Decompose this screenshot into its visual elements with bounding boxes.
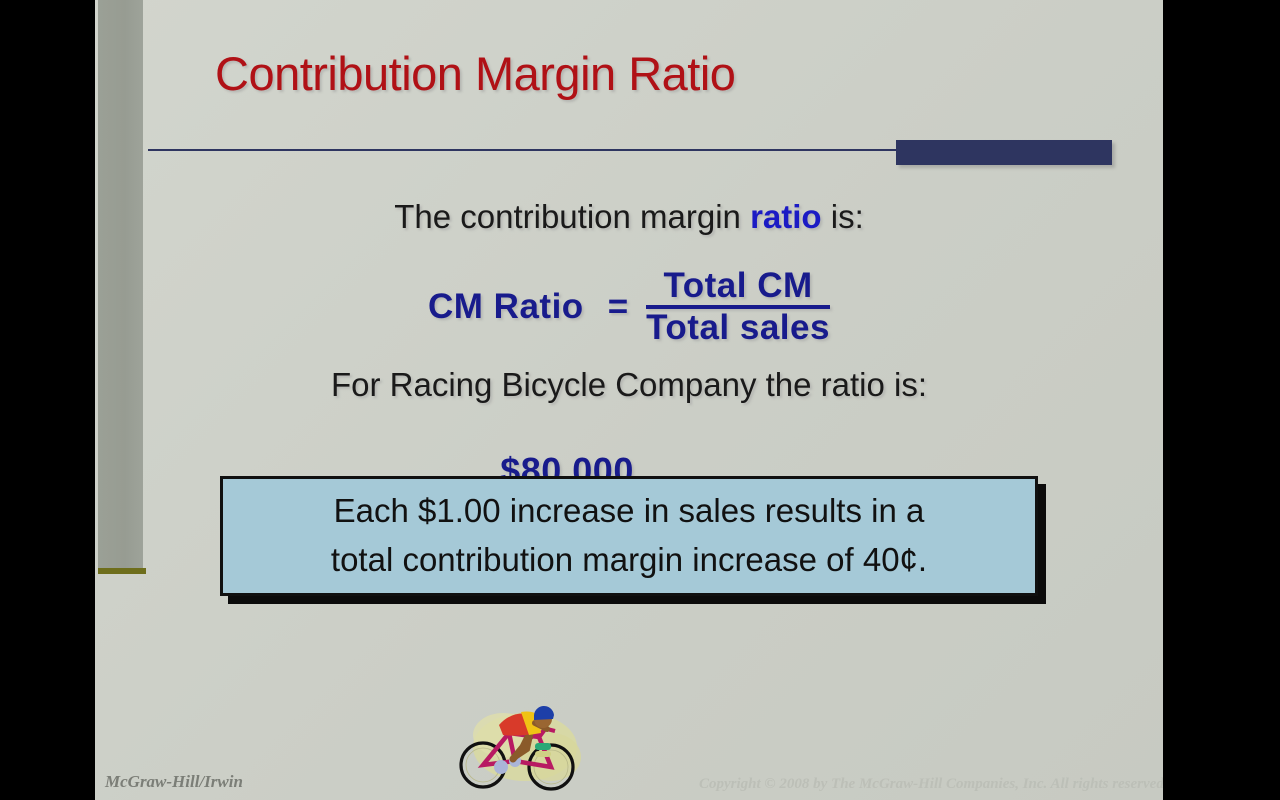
callout-line-2: total contribution margin increase of 40… [331, 536, 927, 585]
footer-publisher: McGraw-Hill/Irwin [105, 772, 243, 792]
intro-line-after: is: [822, 198, 864, 235]
callout-line-1: Each $1.00 increase in sales results in … [334, 487, 925, 536]
definition-denominator: Total sales [646, 310, 830, 346]
equals-sign: = [608, 287, 628, 327]
footer-copyright: Copyright © 2008 by The McGraw-Hill Comp… [699, 776, 1163, 793]
intro-line: The contribution margin ratio is: [95, 198, 1163, 236]
page-title: Contribution Margin Ratio [215, 46, 735, 101]
callout-box: Each $1.00 increase in sales results in … [220, 476, 1038, 596]
intro-line-highlight: ratio [750, 198, 822, 235]
cyclist-icon [443, 695, 603, 795]
definition-fraction: Total CM Total sales [646, 268, 830, 346]
racing-company-line: For Racing Bicycle Company the ratio is: [95, 366, 1163, 404]
definition-numerator: Total CM [663, 268, 812, 304]
title-divider-rule [148, 149, 896, 151]
title-accent-bar [896, 140, 1112, 165]
cm-ratio-label: CM Ratio [428, 287, 584, 327]
left-band-foot-accent [98, 568, 146, 574]
intro-line-before: The contribution margin [394, 198, 750, 235]
screen-letterbox: Contribution Margin Ratio The contributi… [0, 0, 1280, 800]
presentation-slide: Contribution Margin Ratio The contributi… [95, 0, 1163, 800]
cm-ratio-definition-formula: CM Ratio = Total CM Total sales [95, 268, 1163, 346]
